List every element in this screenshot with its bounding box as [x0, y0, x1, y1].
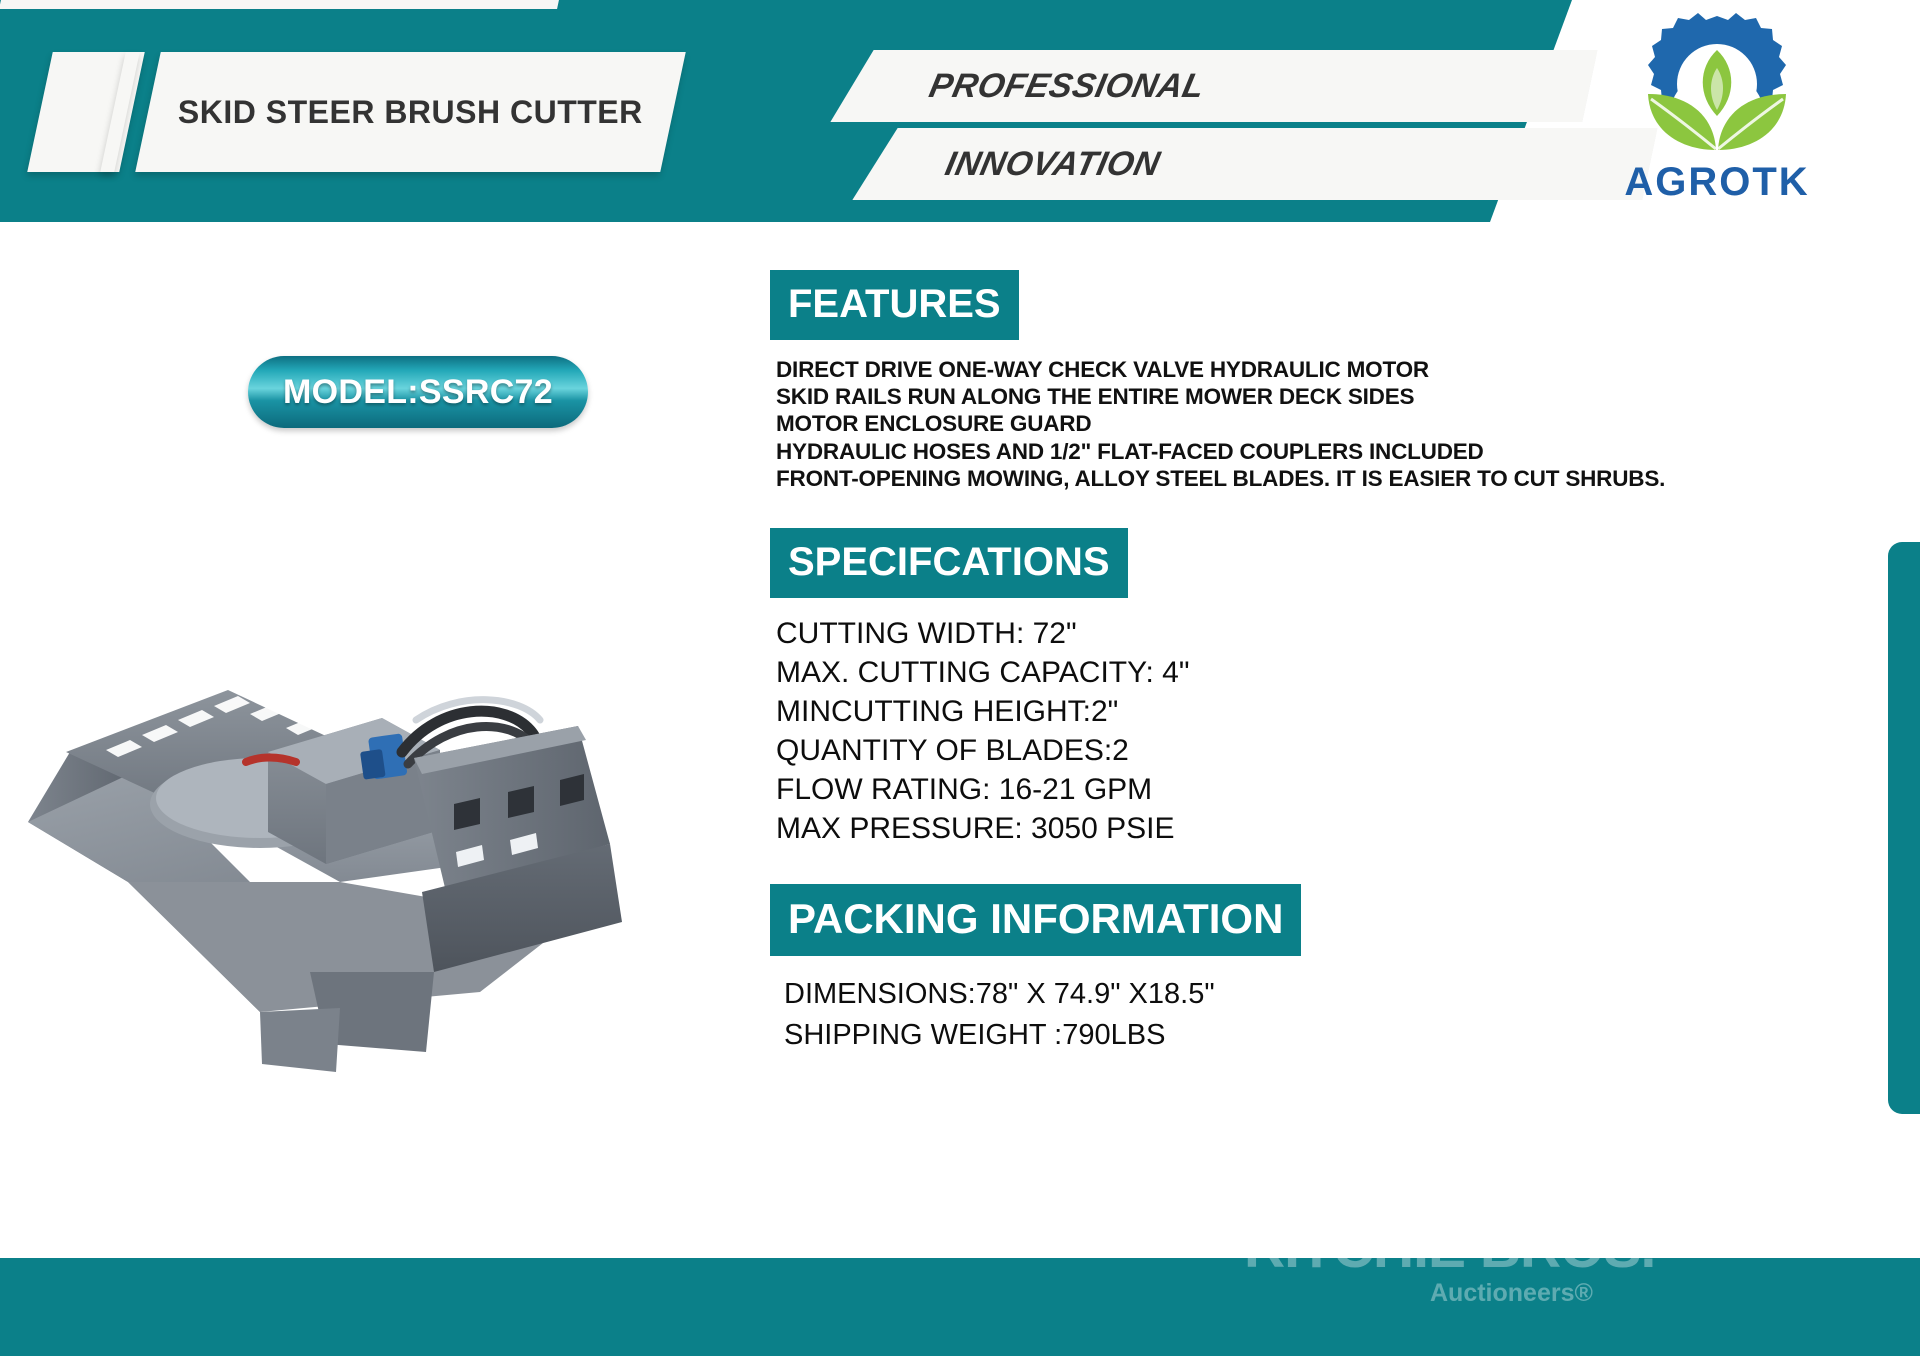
spec-item: QUANTITY OF BLADES:2 — [776, 731, 1850, 770]
features-section: FEATURES DIRECT DRIVE ONE-WAY CHECK VALV… — [770, 270, 1850, 492]
page-body: MODEL:SSRC72 — [0, 222, 1920, 1232]
page-header: SKID STEER BRUSH CUTTER PROFESSIONAL INN… — [0, 0, 1920, 222]
packing-heading: PACKING INFORMATION — [770, 884, 1301, 956]
features-list: DIRECT DRIVE ONE-WAY CHECK VALVE HYDRAUL… — [776, 356, 1850, 492]
model-badge: MODEL:SSRC72 — [248, 356, 588, 428]
packing-item: SHIPPING WEIGHT :790LBS — [784, 1015, 1850, 1056]
tagline-innovation: INNOVATION — [942, 145, 1164, 184]
packing-item: DIMENSIONS:78" X 74.9" X18.5" — [784, 974, 1850, 1015]
feature-item: FRONT-OPENING MOWING, ALLOY STEEL BLADES… — [776, 465, 1850, 492]
product-photo — [10, 452, 750, 1092]
spec-item: FLOW RATING: 16-21 GPM — [776, 770, 1850, 809]
page-title: SKID STEER BRUSH CUTTER — [178, 94, 643, 131]
page-footer: RITCHIE BROS. Auctioneers® — [0, 1258, 1920, 1356]
header-decor-underline — [0, 0, 559, 9]
tagline-professional: PROFESSIONAL — [926, 67, 1209, 106]
specifications-heading: SPECIFCATIONS — [770, 528, 1128, 598]
spec-item: MAX. CUTTING CAPACITY: 4" — [776, 653, 1850, 692]
right-edge-tab[interactable] — [1888, 542, 1920, 1114]
spec-item: MINCUTTING HEIGHT:2" — [776, 692, 1850, 731]
specifications-list: CUTTING WIDTH: 72" MAX. CUTTING CAPACITY… — [776, 614, 1850, 848]
spec-sheet-column: FEATURES DIRECT DRIVE ONE-WAY CHECK VALV… — [770, 270, 1850, 1055]
tagline-banner-professional: PROFESSIONAL — [830, 50, 1597, 122]
packing-list: DIMENSIONS:78" X 74.9" X18.5" SHIPPING W… — [784, 974, 1850, 1055]
spec-item: MAX PRESSURE: 3050 PSIE — [776, 809, 1850, 848]
feature-item: DIRECT DRIVE ONE-WAY CHECK VALVE HYDRAUL… — [776, 356, 1850, 383]
brand-wordmark: AGROTK — [1624, 162, 1809, 202]
gear-leaf-logo-icon — [1624, 10, 1810, 160]
watermark-sub-text: Auctioneers® — [1430, 1281, 1884, 1306]
product-title-banner: SKID STEER BRUSH CUTTER — [135, 52, 686, 172]
feature-item: HYDRAULIC HOSES AND 1/2" FLAT-FACED COUP… — [776, 438, 1850, 465]
ritchie-bros-watermark: RITCHIE BROS. Auctioneers® — [1244, 1258, 1884, 1306]
packing-section: PACKING INFORMATION DIMENSIONS:78" X 74.… — [770, 884, 1850, 1055]
model-badge-label: MODEL:SSRC72 — [283, 373, 553, 412]
brand-logo: AGROTK — [1592, 10, 1842, 218]
watermark-main-text: RITCHIE BROS. — [1244, 1258, 1884, 1277]
feature-item: SKID RAILS RUN ALONG THE ENTIRE MOWER DE… — [776, 383, 1850, 410]
specifications-section: SPECIFCATIONS CUTTING WIDTH: 72" MAX. CU… — [770, 528, 1850, 848]
tagline-banner-innovation: INNOVATION — [852, 128, 1657, 200]
feature-item: MOTOR ENCLOSURE GUARD — [776, 410, 1850, 437]
spec-item: CUTTING WIDTH: 72" — [776, 614, 1850, 653]
features-heading: FEATURES — [770, 270, 1019, 340]
